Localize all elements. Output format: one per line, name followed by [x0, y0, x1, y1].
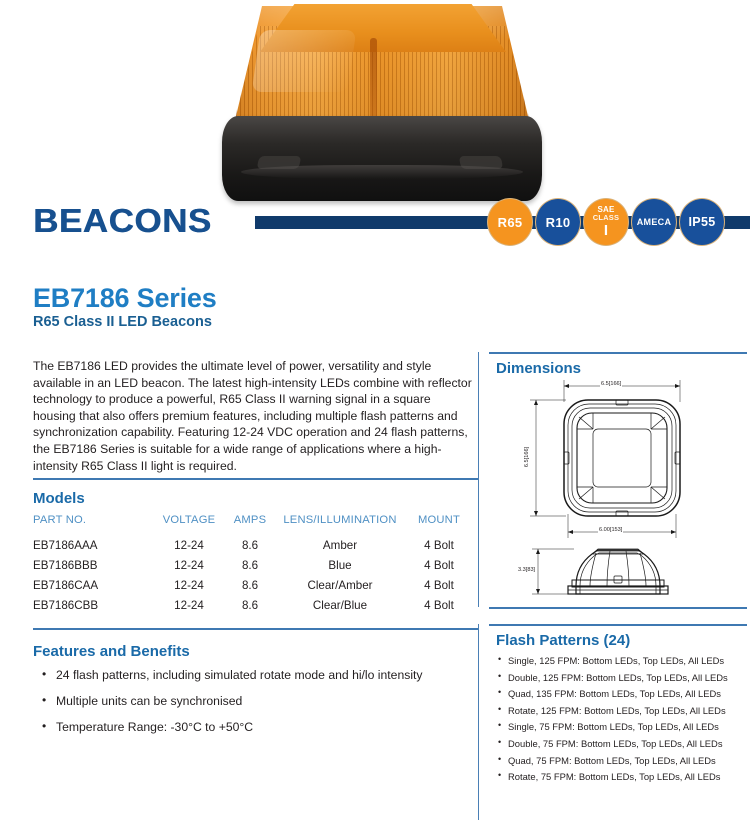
cell-lens-illumination: Blue — [275, 555, 405, 575]
brand-word: BEACONS — [33, 202, 212, 240]
features-list: 24 flash patterns, including simulated r… — [40, 668, 470, 746]
list-item: Quad, 75 FPM: Bottom LEDs, Top LEDs, All… — [497, 755, 745, 766]
list-item: Rotate, 125 FPM: Bottom LEDs, Top LEDs, … — [497, 705, 745, 716]
list-item: Temperature Range: -30°C to +50°C — [40, 720, 470, 735]
column-header-amps: AMPS — [225, 514, 275, 535]
column-header-mount: MOUNT — [405, 514, 473, 535]
column-divider-bottom — [478, 624, 479, 820]
list-item: Rotate, 75 FPM: Bottom LEDs, Top LEDs, A… — [497, 771, 745, 782]
cell-voltage: 12-24 — [153, 535, 225, 555]
column-divider-top — [478, 352, 479, 607]
dimension-label-base-width: 6.00[153] — [598, 527, 623, 533]
cell-part-no: EB7186CBB — [33, 595, 153, 615]
models-header-row: PART NO. VOLTAGE AMPS LENS/ILLUMINATION … — [33, 514, 473, 535]
cell-mount: 4 Bolt — [405, 595, 473, 615]
ip55-badge: IP55 — [679, 198, 725, 246]
dimension-label-top-height: 6.5[166] — [524, 446, 530, 468]
amber-led-beacon-image — [222, 4, 542, 216]
product-photo — [0, 0, 750, 218]
list-item: Double, 75 FPM: Bottom LEDs, Top LEDs, A… — [497, 738, 745, 749]
page-title: EB7186 Series — [33, 283, 217, 314]
models-heading: Models — [33, 490, 85, 507]
column-header-voltage: VOLTAGE — [153, 514, 225, 535]
beacon-base-tab-right — [459, 156, 503, 169]
sae-class-1-badge-line-2: CLASS — [593, 214, 619, 222]
ip55-badge-label: IP55 — [689, 216, 716, 229]
cell-lens-illumination: Clear/Amber — [275, 575, 405, 595]
flash-patterns-list: Single, 125 FPM: Bottom LEDs, Top LEDs, … — [497, 655, 745, 788]
cell-mount: 4 Bolt — [405, 535, 473, 555]
certification-badges: R65R10SAECLASSIAMECAIP55 — [487, 197, 725, 247]
list-item: Quad, 135 FPM: Bottom LEDs, Top LEDs, Al… — [497, 688, 745, 699]
list-item: Multiple units can be synchronised — [40, 694, 470, 709]
features-heading: Features and Benefits — [33, 643, 190, 660]
cell-part-no: EB7186CAA — [33, 575, 153, 595]
dimensions-drawing: 6.5[166] 6.5[166] 6.00[153] 3.3[83] — [492, 372, 744, 604]
sae-class-1-badge-line-3: I — [604, 223, 608, 238]
models-table-body: EB7186AAA12-248.6Amber4 BoltEB7186BBB12-… — [33, 535, 473, 615]
cell-part-no: EB7186BBB — [33, 555, 153, 575]
table-row: EB7186AAA12-248.6Amber4 Bolt — [33, 535, 473, 555]
cell-voltage: 12-24 — [153, 575, 225, 595]
cell-part-no: EB7186AAA — [33, 535, 153, 555]
cell-amps: 8.6 — [225, 555, 275, 575]
models-table: PART NO. VOLTAGE AMPS LENS/ILLUMINATION … — [33, 514, 473, 615]
column-header-lens-illumination: LENS/ILLUMINATION — [275, 514, 405, 535]
ameca-badge: AMECA — [631, 198, 677, 246]
list-item: Single, 125 FPM: Bottom LEDs, Top LEDs, … — [497, 655, 745, 666]
cell-voltage: 12-24 — [153, 555, 225, 575]
flash-section-rule — [489, 624, 747, 626]
list-item: 24 flash patterns, including simulated r… — [40, 668, 470, 683]
features-section-rule — [33, 628, 478, 630]
cell-amps: 8.6 — [225, 595, 275, 615]
r10-badge-label: R10 — [546, 216, 571, 229]
cell-amps: 8.6 — [225, 535, 275, 555]
list-item: Double, 125 FPM: Bottom LEDs, Top LEDs, … — [497, 672, 745, 683]
cell-lens-illumination: Amber — [275, 535, 405, 555]
column-header-part-no: PART NO. — [33, 514, 153, 535]
cell-mount: 4 Bolt — [405, 555, 473, 575]
sae-class-1-badge: SAECLASSI — [583, 198, 629, 246]
cell-mount: 4 Bolt — [405, 575, 473, 595]
beacon-lens-highlight — [252, 30, 357, 92]
ameca-badge-label: AMECA — [637, 218, 672, 227]
product-description: The EB7186 LED provides the ultimate lev… — [33, 358, 473, 474]
page-subtitle: R65 Class II LED Beacons — [33, 314, 212, 330]
r65-badge-label: R65 — [498, 216, 523, 229]
table-row: EB7186BBB12-248.6Blue4 Bolt — [33, 555, 473, 575]
list-item: Single, 75 FPM: Bottom LEDs, Top LEDs, A… — [497, 721, 745, 732]
cell-amps: 8.6 — [225, 575, 275, 595]
table-row: EB7186CAA12-248.6Clear/Amber4 Bolt — [33, 575, 473, 595]
dimensions-bottom-rule — [489, 607, 747, 609]
models-section-rule — [33, 478, 478, 480]
dimension-label-top-width: 6.5[166] — [600, 381, 622, 387]
dimensions-section-rule — [489, 352, 747, 354]
cell-lens-illumination: Clear/Blue — [275, 595, 405, 615]
r10-badge: R10 — [535, 198, 581, 246]
table-row: EB7186CBB12-248.6Clear/Blue4 Bolt — [33, 595, 473, 615]
cell-voltage: 12-24 — [153, 595, 225, 615]
beacon-base — [222, 116, 542, 201]
flash-patterns-heading: Flash Patterns (24) — [496, 632, 630, 649]
dimension-label-side-height: 3.3[83] — [517, 567, 536, 573]
r65-badge: R65 — [487, 198, 533, 246]
beacon-base-tab-left — [257, 156, 302, 169]
